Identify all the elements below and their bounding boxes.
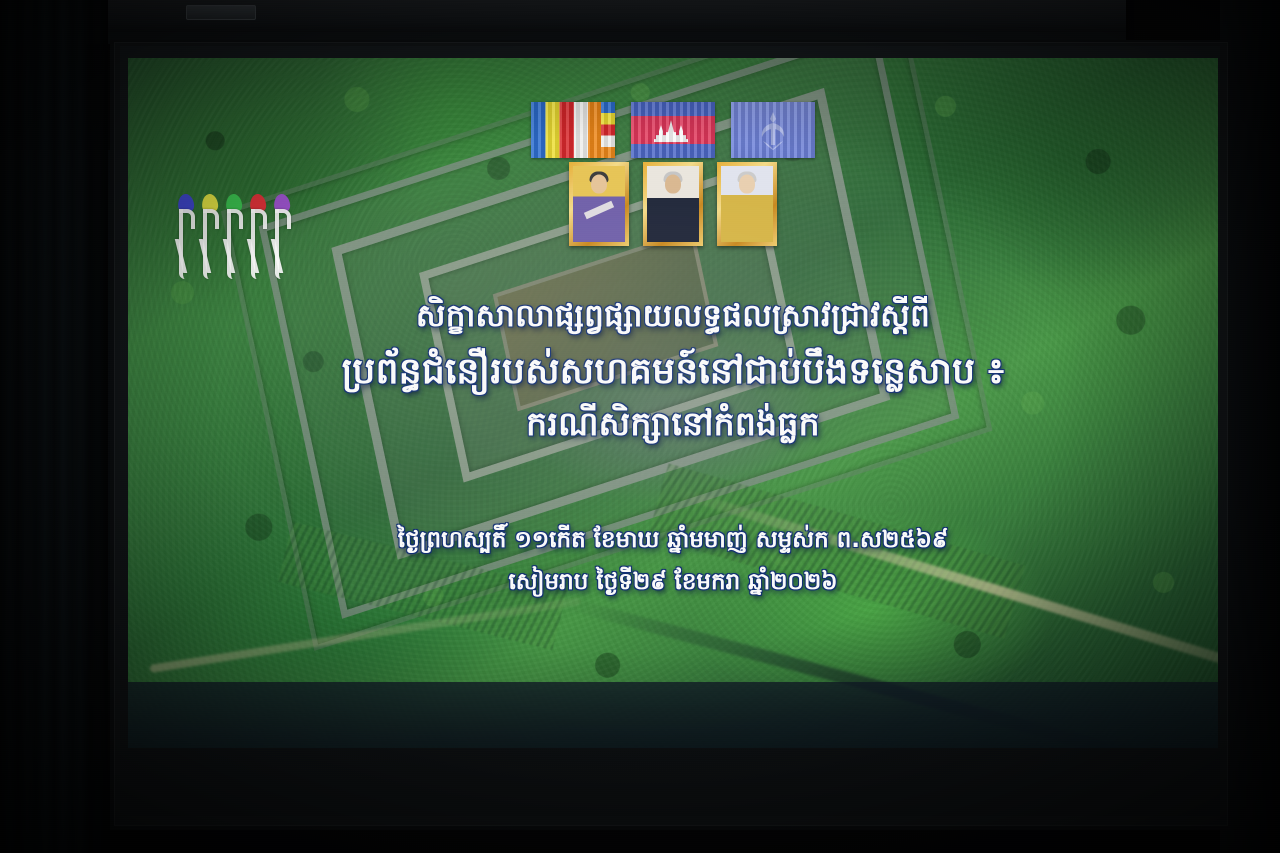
candle-banner-green <box>224 194 243 280</box>
banner-stem <box>203 209 220 279</box>
portrait-face <box>591 175 607 194</box>
candle-banner-yellow <box>200 194 219 280</box>
angkor-wat-emblem <box>650 120 696 142</box>
portrait-king <box>569 162 629 246</box>
candle-banners <box>176 194 291 280</box>
royal-emblem-icon <box>756 110 790 150</box>
portrait-image <box>573 166 625 242</box>
slide-title-line1: សិក្ខាសាលាផ្សព្វផ្សាយលទ្ធផលស្រាវជ្រាវស្ដ… <box>128 294 1218 338</box>
slide-footer-band <box>128 682 1218 748</box>
banner-stem <box>179 209 196 279</box>
buddhist-flag-icon <box>531 102 615 158</box>
flag-row <box>531 102 815 158</box>
banner-stem <box>227 209 244 279</box>
slide-title-line3: ករណីសិក្សានៅកំពង់ធ្លក <box>128 401 1218 448</box>
screenshot-root: សិក្ខាសាលាផ្សព្វផ្សាយលទ្ធផលស្រាវជ្រាវស្ដ… <box>0 0 1280 853</box>
slide-date-lunar: ថ្ងៃព្រហស្បតិ៍ ១១កើត ខែមាឃ ឆ្នាំមមាញ់ សម… <box>128 524 1218 557</box>
royal-flag-icon <box>731 102 815 158</box>
portrait-king-father <box>643 162 703 246</box>
banner-stem <box>251 209 268 279</box>
portrait-face <box>739 175 755 194</box>
candle-banner-red <box>248 194 267 280</box>
portrait-queen-mother <box>717 162 777 246</box>
left-curtain <box>0 0 108 853</box>
cambodia-flag-icon <box>631 102 715 158</box>
slide-date-block: ថ្ងៃព្រហស្បតិ៍ ១១កើត ខែមាឃ ឆ្នាំមមាញ់ សម… <box>128 524 1218 598</box>
buddhist-flag-band <box>601 102 615 158</box>
projected-slide: សិក្ខាសាលាផ្សព្វផ្សាយលទ្ធផលស្រាវជ្រាវស្ដ… <box>128 58 1218 748</box>
portrait-image <box>721 166 773 242</box>
portrait-sash <box>584 201 614 220</box>
slide-content: សិក្ខាសាលាផ្សព្វផ្សាយលទ្ធផលស្រាវជ្រាវស្ដ… <box>128 58 1218 748</box>
portrait-image <box>647 166 699 242</box>
slide-date-gregorian: សៀមរាប ថ្ងៃទី២៩ ខែមករា ឆ្នាំ២០២៦ <box>128 566 1218 599</box>
banner-stem <box>275 209 292 279</box>
housing-brand-label <box>186 5 256 20</box>
slide-title-block: សិក្ខាសាលាផ្សព្វផ្សាយលទ្ធផលស្រាវជ្រាវស្ដ… <box>128 294 1218 448</box>
slide-title-line2: ប្រព័ន្ធជំនឿរបស់សហគមន៍នៅជាប់បឹងទន្លេសាប … <box>128 346 1218 397</box>
royal-portraits <box>569 162 777 246</box>
candle-banner-blue <box>176 194 195 280</box>
portrait-face <box>665 175 681 194</box>
candle-banner-purple <box>272 194 291 280</box>
